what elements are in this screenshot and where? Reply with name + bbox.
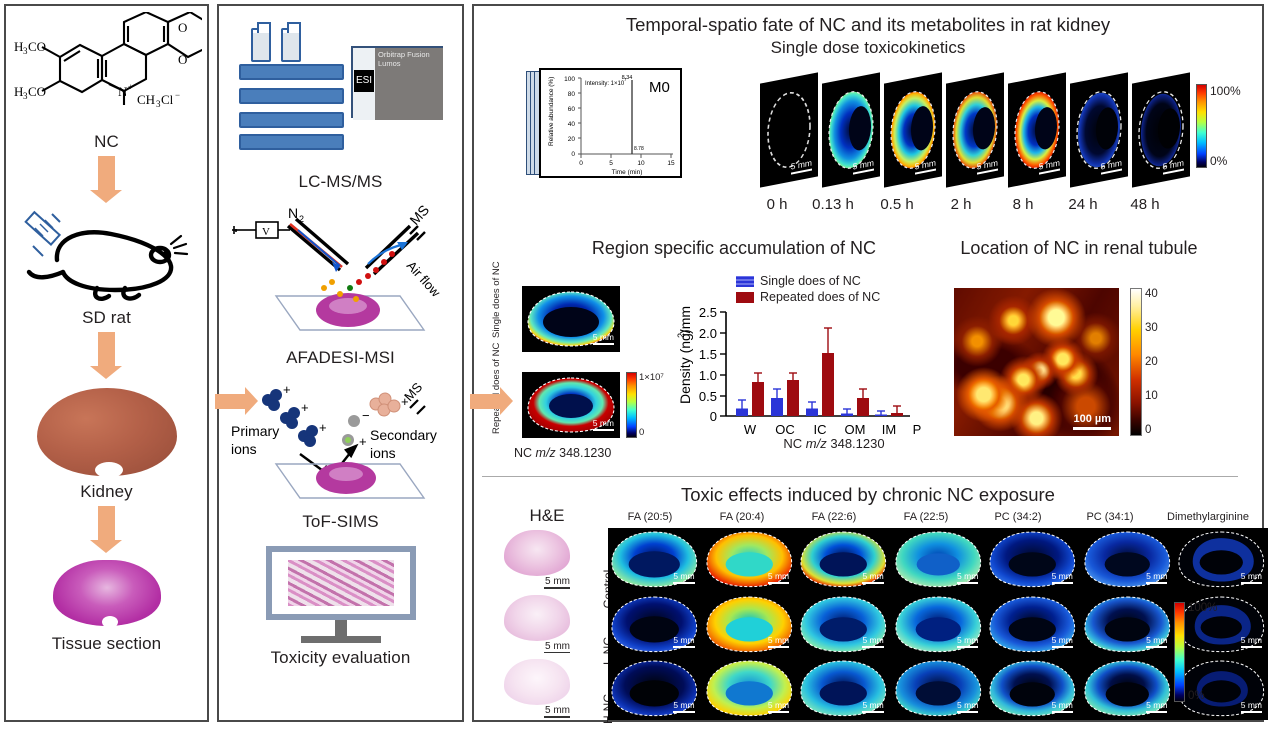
panel-arrow-1-to-2 xyxy=(215,394,245,409)
svg-text:OM: OM xyxy=(845,422,866,437)
nc-molecule-structure: H 3 CO H 3 CO O O N + CH 3 Cl − xyxy=(12,12,202,132)
region-colorbar-min: 0 xyxy=(639,427,664,438)
methoxy-top-label: H xyxy=(14,39,23,54)
timepoint-label-row: 0 h 0.13 h 0.5 h 2 h 8 h 24 h 48 h xyxy=(746,196,1186,216)
oxygen-bottom-label: O xyxy=(178,52,187,67)
lcms-instrument-illustration: ESI Orbitrap Fusion Lumos xyxy=(233,16,448,138)
primary-plus-2: + xyxy=(301,400,309,415)
toxic-image-control-fa226: 5 mm xyxy=(797,528,890,591)
svg-text:−: − xyxy=(175,90,180,100)
timeseries-image-05h: 5 mm xyxy=(884,72,942,187)
toxic-image-control-pc341: 5 mm xyxy=(1081,528,1174,591)
timepoint-label-5: 24 h xyxy=(1052,196,1114,213)
flow-arrow-1 xyxy=(98,156,115,190)
svg-text:1.0: 1.0 xyxy=(699,368,717,383)
svg-text:2.5: 2.5 xyxy=(699,305,717,320)
toxic-image-control-dimethylarginine: 5 mm xyxy=(1175,528,1268,591)
toxic-title: Toxic effects induced by chronic NC expo… xyxy=(474,484,1262,506)
toxic-col-header-6: Dimethylarginine xyxy=(1156,511,1260,523)
secondary-plus-2: + xyxy=(359,434,367,449)
svg-text:2.0: 2.0 xyxy=(699,326,717,341)
timeseries-image-24h: 5 mm xyxy=(1070,72,1128,187)
svg-text:80: 80 xyxy=(568,91,576,98)
chromatogram-stack xyxy=(526,71,538,175)
primary-plus-3: + xyxy=(319,420,327,435)
toxic-image-lnc-fa205: 5 mm xyxy=(608,593,701,656)
tubule-tick-30: 30 xyxy=(1145,322,1158,334)
region-colorbar: 1×10⁷ 0 xyxy=(626,372,664,438)
legend-swatch-single xyxy=(736,276,754,287)
flow-arrow-3 xyxy=(98,506,115,540)
svg-text:15: 15 xyxy=(667,160,675,167)
svg-text:20: 20 xyxy=(568,136,576,143)
secondary-ions-label-line1: Secondary xyxy=(370,427,437,443)
svg-text:0: 0 xyxy=(579,160,583,167)
region-scalebar-single: 5 mm xyxy=(593,332,614,345)
metabolite-m0-label: M0 xyxy=(649,79,670,96)
toxic-image-lnc-pc341: 5 mm xyxy=(1081,593,1174,656)
timeseries-image-013h: 5 mm xyxy=(822,72,880,187)
orbitrap-body: Orbitrap Fusion Lumos xyxy=(375,48,443,120)
tubule-tick-20: 20 xyxy=(1145,356,1158,368)
toxic-image-lnc-fa226: 5 mm xyxy=(797,593,890,656)
toxic-colorbar: 100% 0% xyxy=(1174,602,1217,702)
tubule-scalebar: 100 µm xyxy=(1073,413,1111,430)
results-title: Temporal-spatio fate of NC and its metab… xyxy=(474,14,1262,36)
region-row-label-single: Single does of NC xyxy=(506,288,522,350)
toxic-col-header-0: FA (20:5) xyxy=(604,511,696,523)
primary-ions-label-line2: ions xyxy=(231,441,257,457)
step-label-nc: NC xyxy=(94,132,119,152)
region-bar-chart: Single does of NC Repeated does of NC xyxy=(674,276,924,454)
svg-text:0: 0 xyxy=(710,409,717,424)
tubule-tick-0: 0 xyxy=(1145,424,1158,436)
toxic-col-header-4: PC (34:2) xyxy=(972,511,1064,523)
svg-text:IM: IM xyxy=(882,422,896,437)
svg-text:0.5: 0.5 xyxy=(699,389,717,404)
svg-text:IC: IC xyxy=(814,422,827,437)
sd-rat-illustration xyxy=(19,208,194,308)
tubule-tick-40: 40 xyxy=(1145,288,1158,300)
esi-label: ESI xyxy=(354,70,374,92)
svg-text:): ) xyxy=(677,329,693,334)
tubule-colorbar: 40 30 20 10 0 xyxy=(1130,288,1158,436)
toxic-image-hnc-pc341: 5 mm xyxy=(1081,657,1174,720)
svg-text:100: 100 xyxy=(564,76,575,83)
timepoint-label-2: 0.5 h xyxy=(866,196,928,213)
toxic-image-control-fa204: 5 mm xyxy=(703,528,796,591)
tubule-image: 100 µm xyxy=(954,288,1119,436)
svg-text:W: W xyxy=(744,422,757,437)
tissue-section-image xyxy=(52,560,162,630)
region-image-single-dose: 5 mm xyxy=(522,286,620,352)
svg-text:10: 10 xyxy=(637,160,645,167)
he-column: 5 mm 5 mm 5 mm xyxy=(504,530,570,718)
step-label-kidney: Kidney xyxy=(80,482,133,502)
orbitrap-instrument: ESI Orbitrap Fusion Lumos xyxy=(351,46,443,118)
methyl-chloride-label: CH xyxy=(137,92,155,107)
ms-label-afadesi: MS xyxy=(406,204,432,228)
svg-text:5: 5 xyxy=(609,160,613,167)
panel-arrow-2-to-3 xyxy=(470,394,500,409)
svg-text:Cl: Cl xyxy=(161,92,174,107)
chromatogram-ylabel: Relative abundance (%) xyxy=(548,77,555,146)
step-label-tissue: Tissue section xyxy=(52,634,161,654)
results-subtitle: Single dose toxicokinetics xyxy=(474,38,1262,58)
toxic-image-control-fa225: 5 mm xyxy=(892,528,985,591)
toxic-column-headers: FA (20:5) FA (20:4) FA (22:6) FA (22:5) … xyxy=(604,511,1268,527)
bar-chart-ylabel: Density (ng/mm xyxy=(677,306,693,404)
toxic-image-hnc-pc342: 5 mm xyxy=(986,657,1079,720)
he-image-hnc: 5 mm xyxy=(504,659,570,718)
region-image-caption: NC m/z 348.1230 xyxy=(514,446,611,460)
region-image-repeated-dose: 5 mm xyxy=(522,372,620,438)
svg-text:40: 40 xyxy=(568,121,576,128)
secondary-minus: − xyxy=(362,408,370,423)
kidney-photo xyxy=(37,388,177,476)
esi-source: ESI xyxy=(353,48,375,120)
tofsims-illustration: + + + Primary ions − + + S xyxy=(228,378,453,518)
chromatogram-xlabel: Time (min) xyxy=(612,169,643,176)
primary-ions-label-line1: Primary xyxy=(231,423,279,439)
flow-arrow-2 xyxy=(98,332,115,366)
peak-foot-label: 8.78 xyxy=(634,146,644,152)
chromatogram-panel: 100 80 60 40 20 0 0 5 10 15 8.34 8.78 In… xyxy=(526,68,682,180)
svg-text:CO: CO xyxy=(28,84,46,99)
he-scalebar-hnc: 5 mm xyxy=(504,705,570,718)
he-image-control: 5 mm xyxy=(504,530,570,589)
panel-results: Temporal-spatio fate of NC and its metab… xyxy=(472,4,1264,722)
toxic-image-hnc-fa226: 5 mm xyxy=(797,657,890,720)
panel-workflow: H 3 CO H 3 CO O O N + CH 3 Cl − NC xyxy=(4,4,209,722)
region-title: Region specific accumulation of NC xyxy=(534,238,934,259)
he-scalebar-lnc: 5 mm xyxy=(504,641,570,654)
toxic-image-hnc-fa204: 5 mm xyxy=(703,657,796,720)
toxic-image-hnc-fa225: 5 mm xyxy=(892,657,985,720)
step-label-rat: SD rat xyxy=(82,308,131,328)
he-image-lnc: 5 mm xyxy=(504,595,570,654)
toxic-colorbar-max: 100% xyxy=(1188,602,1217,614)
svg-text:P: P xyxy=(913,422,922,437)
primary-plus-1: + xyxy=(283,382,291,397)
svg-text:1.5: 1.5 xyxy=(699,347,717,362)
figure-root: H 3 CO H 3 CO O O N + CH 3 Cl − NC xyxy=(0,0,1268,726)
method-label-toxicity: Toxicity evaluation xyxy=(271,648,411,668)
region-colorbar-max: 1×10⁷ xyxy=(639,372,664,383)
timeseries-image-0h: 5 mm xyxy=(760,72,818,187)
timeseries-colorbar: 100% 0% xyxy=(1196,84,1241,168)
nitrogen-label: N xyxy=(118,84,128,99)
method-label-lcms: LC-MS/MS xyxy=(299,172,383,192)
svg-text:CO: CO xyxy=(28,39,46,54)
intensity-label: Intensity: 1×10 xyxy=(585,81,625,87)
toxic-image-control-pc342: 5 mm xyxy=(986,528,1079,591)
timeseries-image-row: 5 mm 5 mm xyxy=(760,72,1180,192)
toxic-image-hnc-fa205: 5 mm xyxy=(608,657,701,720)
timepoint-label-4: 8 h xyxy=(992,196,1054,213)
timeseries-image-8h: 5 mm xyxy=(1008,72,1066,187)
section-divider xyxy=(482,476,1238,477)
toxic-image-lnc-pc342: 5 mm xyxy=(986,593,1079,656)
panel-methods: ESI Orbitrap Fusion Lumos LC-MS/MS xyxy=(217,4,464,722)
he-header: H&E xyxy=(492,506,602,526)
timepoint-label-6: 48 h xyxy=(1114,196,1176,213)
timepoint-label-0: 0 h xyxy=(746,196,808,213)
svg-text:+: + xyxy=(128,82,133,92)
airflow-label: Air flow xyxy=(404,258,444,300)
toxic-col-header-5: PC (34:1) xyxy=(1064,511,1156,523)
tubule-title: Location of NC in renal tubule xyxy=(929,238,1229,259)
instrument-model-label: Orbitrap Fusion Lumos xyxy=(375,48,443,68)
oxygen-top-label: O xyxy=(178,20,187,35)
afadesi-illustration: V N 2 xyxy=(228,204,453,354)
he-scalebar-control: 5 mm xyxy=(504,576,570,589)
timeseries-image-2h: 5 mm xyxy=(946,72,1004,187)
legend-item-repeated: Repeated does of NC xyxy=(736,290,880,304)
bar-chart-xlabel: NC m/z 348.1230 xyxy=(734,436,934,451)
svg-text:0: 0 xyxy=(571,151,575,158)
svg-text:60: 60 xyxy=(568,106,576,113)
timeseries-colorbar-min: 0% xyxy=(1210,154,1241,168)
secondary-ions-label-line2: ions xyxy=(370,445,396,461)
toxic-image-lnc-fa204: 5 mm xyxy=(703,593,796,656)
toxic-image-lnc-fa225: 5 mm xyxy=(892,593,985,656)
voltage-label: V xyxy=(262,226,270,238)
toxicity-monitor-illustration xyxy=(266,546,416,642)
svg-text:OC: OC xyxy=(775,422,795,437)
legend-swatch-repeated xyxy=(736,292,754,303)
legend-item-single: Single does of NC xyxy=(736,274,880,288)
region-scalebar-repeated: 5 mm xyxy=(593,418,614,431)
tubule-tick-10: 10 xyxy=(1145,390,1158,402)
toxic-col-header-2: FA (22:6) xyxy=(788,511,880,523)
toxic-col-header-3: FA (22:5) xyxy=(880,511,972,523)
toxic-image-control-fa205: 5 mm xyxy=(608,528,701,591)
toxic-col-header-1: FA (20:4) xyxy=(696,511,788,523)
toxic-colorbar-min: 0% xyxy=(1188,690,1217,702)
methoxy-bottom-label: H xyxy=(14,84,23,99)
timeseries-image-48h: 5 mm xyxy=(1132,72,1190,187)
timepoint-label-3: 2 h xyxy=(930,196,992,213)
toxic-image-grid: 5 mm 5 mm xyxy=(608,528,1268,720)
timepoint-label-1: 0.13 h xyxy=(802,196,864,213)
timeseries-colorbar-max: 100% xyxy=(1210,84,1241,98)
